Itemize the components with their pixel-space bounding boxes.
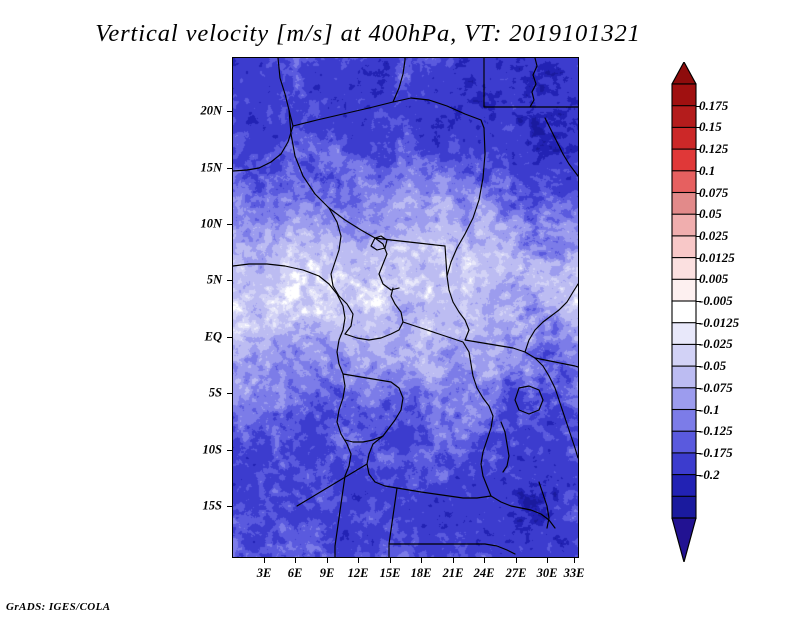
colorbar-label-14: -0.1 bbox=[699, 402, 720, 418]
x-tick-3E bbox=[264, 558, 265, 563]
map-plot-area bbox=[232, 57, 579, 558]
colorbar-label-2: 0.125 bbox=[699, 141, 728, 157]
colorbar-label-1: 0.15 bbox=[699, 119, 722, 135]
page-title: Vertical velocity [m/s] at 400hPa, VT: 2… bbox=[0, 20, 736, 48]
x-tick-6E bbox=[295, 558, 296, 563]
colorbar-label-17: -0.2 bbox=[699, 467, 720, 483]
colorbar-label-7: 0.0125 bbox=[699, 250, 735, 266]
x-axis-label-3E: 3E bbox=[257, 566, 272, 581]
x-axis-label-24E: 24E bbox=[474, 566, 495, 581]
x-tick-21E bbox=[453, 558, 454, 563]
x-axis-label-18E: 18E bbox=[411, 566, 432, 581]
colorbar-tick-13 bbox=[696, 388, 701, 389]
x-axis-label-30E: 30E bbox=[537, 566, 558, 581]
colorbar-label-10: -0.0125 bbox=[699, 315, 739, 331]
colorbar-label-9: -0.005 bbox=[699, 293, 733, 309]
colorbar-swatches bbox=[671, 62, 697, 562]
colorbar-tick-0 bbox=[696, 106, 701, 107]
x-tick-18E bbox=[421, 558, 422, 563]
y-axis-label-15N: 15N bbox=[180, 161, 222, 176]
colorbar-tick-2 bbox=[696, 149, 701, 150]
x-axis-label-9E: 9E bbox=[320, 566, 335, 581]
y-tick-5S bbox=[227, 393, 232, 394]
x-tick-30E bbox=[547, 558, 548, 563]
colorbar-tick-4 bbox=[696, 193, 701, 194]
y-axis-label-10N: 10N bbox=[180, 217, 222, 232]
x-axis-label-33E: 33E bbox=[564, 566, 585, 581]
colorbar-tick-15 bbox=[696, 431, 701, 432]
x-axis-label-21E: 21E bbox=[443, 566, 464, 581]
colorbar-tick-5 bbox=[696, 214, 701, 215]
colorbar-label-5: 0.05 bbox=[699, 206, 722, 222]
colorbar-label-15: -0.125 bbox=[699, 423, 733, 439]
colorbar-tick-8 bbox=[696, 279, 701, 280]
colorbar-tick-16 bbox=[696, 453, 701, 454]
colorbar-tick-12 bbox=[696, 366, 701, 367]
colorbar-tick-1 bbox=[696, 127, 701, 128]
y-tick-10N bbox=[227, 224, 232, 225]
x-tick-24E bbox=[484, 558, 485, 563]
colorbar-tick-7 bbox=[696, 258, 701, 259]
y-axis-label-20N: 20N bbox=[180, 104, 222, 119]
colorbar bbox=[671, 62, 697, 562]
x-tick-27E bbox=[516, 558, 517, 563]
colorbar-tick-3 bbox=[696, 171, 701, 172]
x-axis-label-12E: 12E bbox=[348, 566, 369, 581]
colorbar-tick-6 bbox=[696, 236, 701, 237]
colorbar-label-6: 0.025 bbox=[699, 228, 728, 244]
x-tick-15E bbox=[390, 558, 391, 563]
colorbar-tick-14 bbox=[696, 410, 701, 411]
x-tick-9E bbox=[327, 558, 328, 563]
y-tick-10S bbox=[227, 450, 232, 451]
x-axis-label-6E: 6E bbox=[288, 566, 303, 581]
colorbar-tick-9 bbox=[696, 301, 701, 302]
y-tick-EQ bbox=[227, 337, 232, 338]
colorbar-label-13: -0.075 bbox=[699, 380, 733, 396]
country-boundaries-overlay bbox=[233, 58, 578, 557]
x-axis-label-27E: 27E bbox=[506, 566, 527, 581]
colorbar-label-4: 0.075 bbox=[699, 185, 728, 201]
y-tick-20N bbox=[227, 111, 232, 112]
colorbar-label-0: 0.175 bbox=[699, 98, 728, 114]
x-tick-12E bbox=[358, 558, 359, 563]
y-axis-label-5N: 5N bbox=[180, 273, 222, 288]
colorbar-tick-10 bbox=[696, 323, 701, 324]
colorbar-label-16: -0.175 bbox=[699, 445, 733, 461]
colorbar-tick-17 bbox=[696, 475, 701, 476]
y-axis-label-10S: 10S bbox=[180, 443, 222, 458]
x-tick-33E bbox=[574, 558, 575, 563]
colorbar-label-11: -0.025 bbox=[699, 336, 733, 352]
grads-credit: GrADS: IGES/COLA bbox=[6, 601, 111, 613]
y-tick-15S bbox=[227, 506, 232, 507]
colorbar-label-3: 0.1 bbox=[699, 163, 715, 179]
y-axis-label-15S: 15S bbox=[180, 499, 222, 514]
y-tick-5N bbox=[227, 280, 232, 281]
y-tick-15N bbox=[227, 168, 232, 169]
x-axis-label-15E: 15E bbox=[380, 566, 401, 581]
colorbar-tick-11 bbox=[696, 344, 701, 345]
y-axis-label-5S: 5S bbox=[180, 386, 222, 401]
y-axis-label-EQ: EQ bbox=[180, 330, 222, 345]
colorbar-label-12: -0.05 bbox=[699, 358, 726, 374]
colorbar-label-8: 0.005 bbox=[699, 271, 728, 287]
